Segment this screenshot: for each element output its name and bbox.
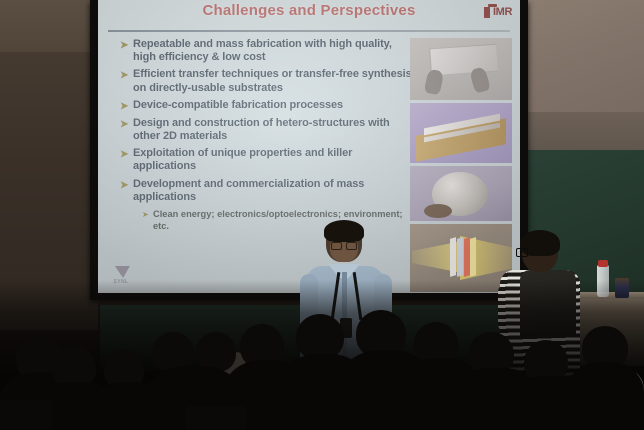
bullet-text: Device-compatible fabrication processes — [133, 99, 343, 112]
spherical-nanostructure-photo — [410, 166, 512, 221]
hand-left — [424, 69, 445, 96]
synl-triangle-icon — [113, 266, 130, 278]
sub-bullet-arrow-icon: ➤ — [142, 208, 153, 221]
right-wall — [520, 0, 644, 120]
seat-back — [186, 406, 246, 430]
glasses-icon — [516, 248, 528, 257]
bullet-text: Design and construction of hetero-struct… — [133, 117, 412, 143]
presenter-hair — [324, 220, 364, 242]
sphere-base — [424, 204, 452, 218]
bullet-arrow-icon: ➤ — [120, 68, 133, 82]
bullet-item: ➤ Device-compatible fabrication processe… — [120, 99, 412, 113]
bullet-text: Repeatable and mass fabrication with hig… — [133, 38, 412, 64]
bullet-text: Development and commercialization of mas… — [133, 178, 412, 204]
layer-2 — [457, 237, 463, 277]
slide-bullet-list: ➤ Repeatable and mass fabrication with h… — [120, 38, 412, 232]
slide-title: Challenges and Perspectives — [98, 2, 520, 19]
bullet-arrow-icon: ➤ — [120, 178, 133, 192]
bullet-item: ➤ Exploitation of unique properties and … — [120, 147, 412, 173]
left-wall-upper — [0, 0, 96, 52]
bottle-cap — [598, 260, 608, 267]
bullet-item: ➤ Repeatable and mass fabrication with h… — [120, 38, 412, 64]
bullet-item: ➤ Development and commercialization of m… — [120, 178, 412, 204]
audience-area — [0, 280, 644, 430]
bullet-item: ➤ Design and construction of hetero-stru… — [120, 117, 412, 143]
imr-logo: IMR — [484, 6, 512, 18]
bullet-arrow-icon: ➤ — [120, 38, 133, 52]
layer-4 — [470, 237, 476, 277]
title-divider — [108, 30, 510, 32]
bullet-arrow-icon: ➤ — [120, 99, 133, 113]
seat-back — [0, 400, 52, 430]
bullet-arrow-icon: ➤ — [120, 147, 133, 161]
imr-flag-icon — [484, 7, 490, 18]
audience-shoulders — [566, 362, 644, 430]
bullet-text: Exploitation of unique properties and ki… — [133, 147, 412, 173]
lecture-hall-scene: Challenges and Perspectives IMR ➤ Repeat… — [0, 0, 644, 430]
glasses-icon — [331, 242, 357, 248]
bullet-text: Efficient transfer techniques or transfe… — [133, 68, 412, 94]
slide-figure-column — [410, 38, 512, 293]
hands-holding-film-photo — [410, 38, 512, 100]
bullet-arrow-icon: ➤ — [120, 117, 133, 131]
bullet-item: ➤ Efficient transfer techniques or trans… — [120, 68, 412, 94]
device-schematic-3d — [410, 103, 512, 163]
layer-1 — [450, 237, 456, 277]
imr-logo-text: IMR — [493, 6, 512, 18]
